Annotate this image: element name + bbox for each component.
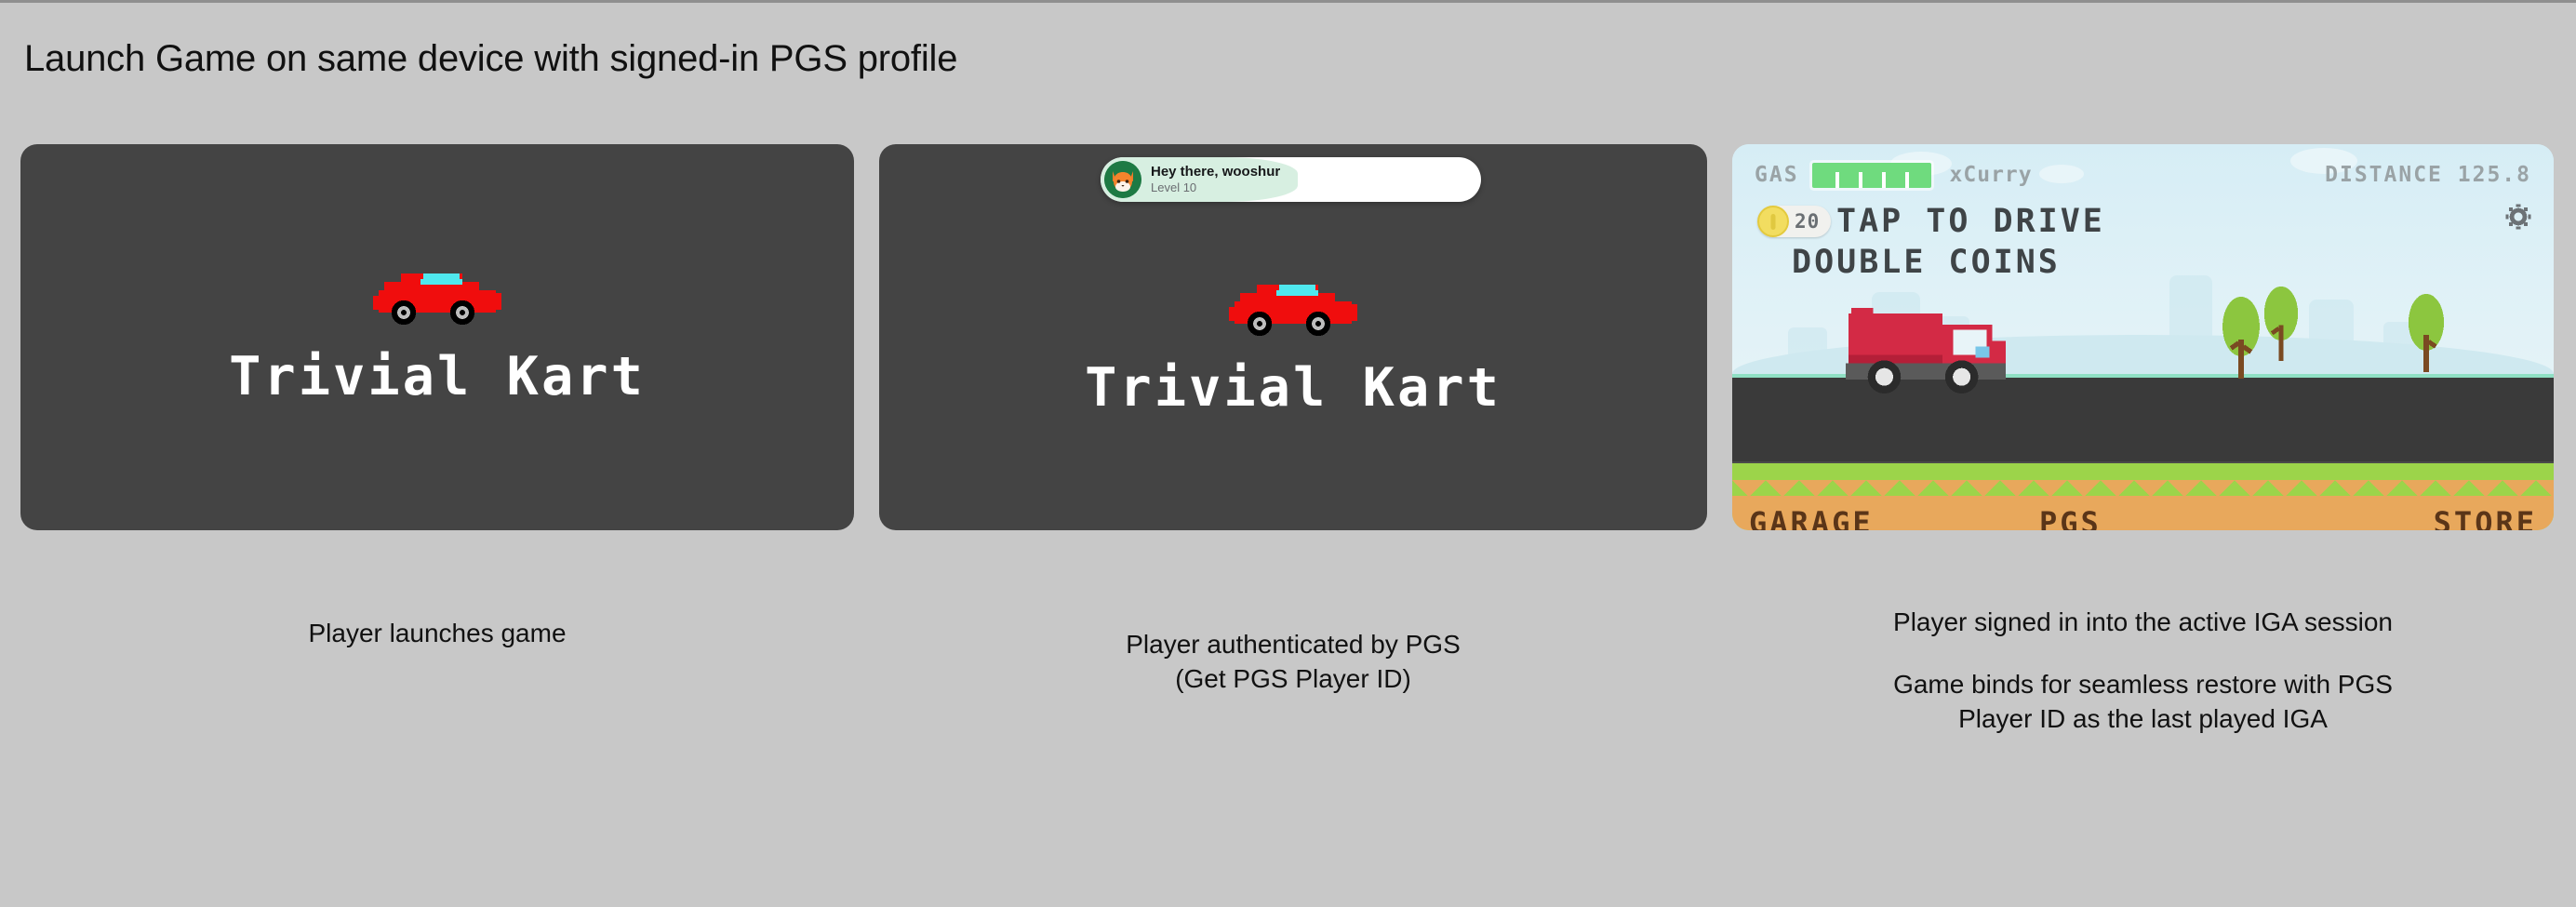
sand-zigzag-edge (1732, 480, 2554, 497)
coin-counter: 20 (1757, 206, 1831, 237)
panel-launch: Trivial Kart (20, 144, 854, 530)
tree-icon (2221, 295, 2262, 379)
page-title: Launch Game on same device with signed-i… (24, 38, 957, 80)
trivial-kart-car-icon (1223, 279, 1363, 340)
gas-notch (1835, 172, 1839, 188)
tree-icon (2262, 284, 2300, 362)
nav-store[interactable]: STORE (2434, 505, 2537, 530)
splash-screen: Trivial Kart (20, 144, 854, 530)
caption-line: Player authenticated by PGS (879, 628, 1707, 662)
panel-auth: Hey there, wooshur Level 10 Trivial K (879, 144, 1707, 530)
coin-count: 20 (1789, 210, 1831, 233)
coin-icon (1757, 206, 1789, 237)
caption-line: Player launches game (20, 617, 854, 651)
nav-pgs[interactable]: PGS (2039, 505, 2102, 530)
game-bottom-nav: GARAGE PGS STORE (1732, 503, 2554, 530)
nav-garage[interactable]: GARAGE (1749, 505, 1874, 530)
gas-notch (1859, 172, 1862, 188)
panel-gameplay: GAS xCurry DISTANCE 125.8 20 TAP TO DRIV… (1732, 144, 2554, 530)
caption-launch: Player launches game (20, 617, 854, 651)
gas-meter (1812, 163, 1931, 188)
tree-icon (2407, 291, 2446, 373)
caption-gameplay: Player signed in into the active IGA ses… (1732, 606, 2554, 737)
gas-notch (1905, 172, 1909, 188)
caption-line: Player signed in into the active IGA ses… (1732, 606, 2554, 640)
slide-root: Launch Game on same device with signed-i… (0, 0, 2576, 907)
player-truck-icon (1842, 302, 2015, 393)
game-hud: GAS xCurry DISTANCE 125.8 (1732, 161, 2554, 189)
game-message-line-1: TAP TO DRIVE (1836, 202, 2105, 243)
game-message-line-2: DOUBLE COINS (1792, 243, 2105, 284)
gas-label: GAS (1755, 163, 1799, 187)
trivial-kart-car-icon (367, 268, 507, 329)
game-screen: GAS xCurry DISTANCE 125.8 20 TAP TO DRIV… (1732, 144, 2554, 530)
game-title: Trivial Kart (1085, 357, 1502, 419)
caption-line: Player ID as the last played IGA (1732, 702, 2554, 737)
distance-readout: DISTANCE 125.8 (2325, 163, 2531, 187)
player-name: xCurry (1950, 163, 2033, 187)
splash-screen: Trivial Kart (879, 155, 1707, 530)
game-message: TAP TO DRIVE DOUBLE COINS (1836, 202, 2105, 284)
caption-line: (Get PGS Player ID) (879, 662, 1707, 697)
gear-icon[interactable] (2503, 202, 2533, 232)
caption-auth: Player authenticated by PGS (Get PGS Pla… (879, 628, 1707, 697)
caption-line: Game binds for seamless restore with PGS (1732, 668, 2554, 702)
gas-notch (1882, 172, 1886, 188)
caption-spacer (1732, 640, 2554, 668)
game-title: Trivial Kart (229, 346, 646, 407)
